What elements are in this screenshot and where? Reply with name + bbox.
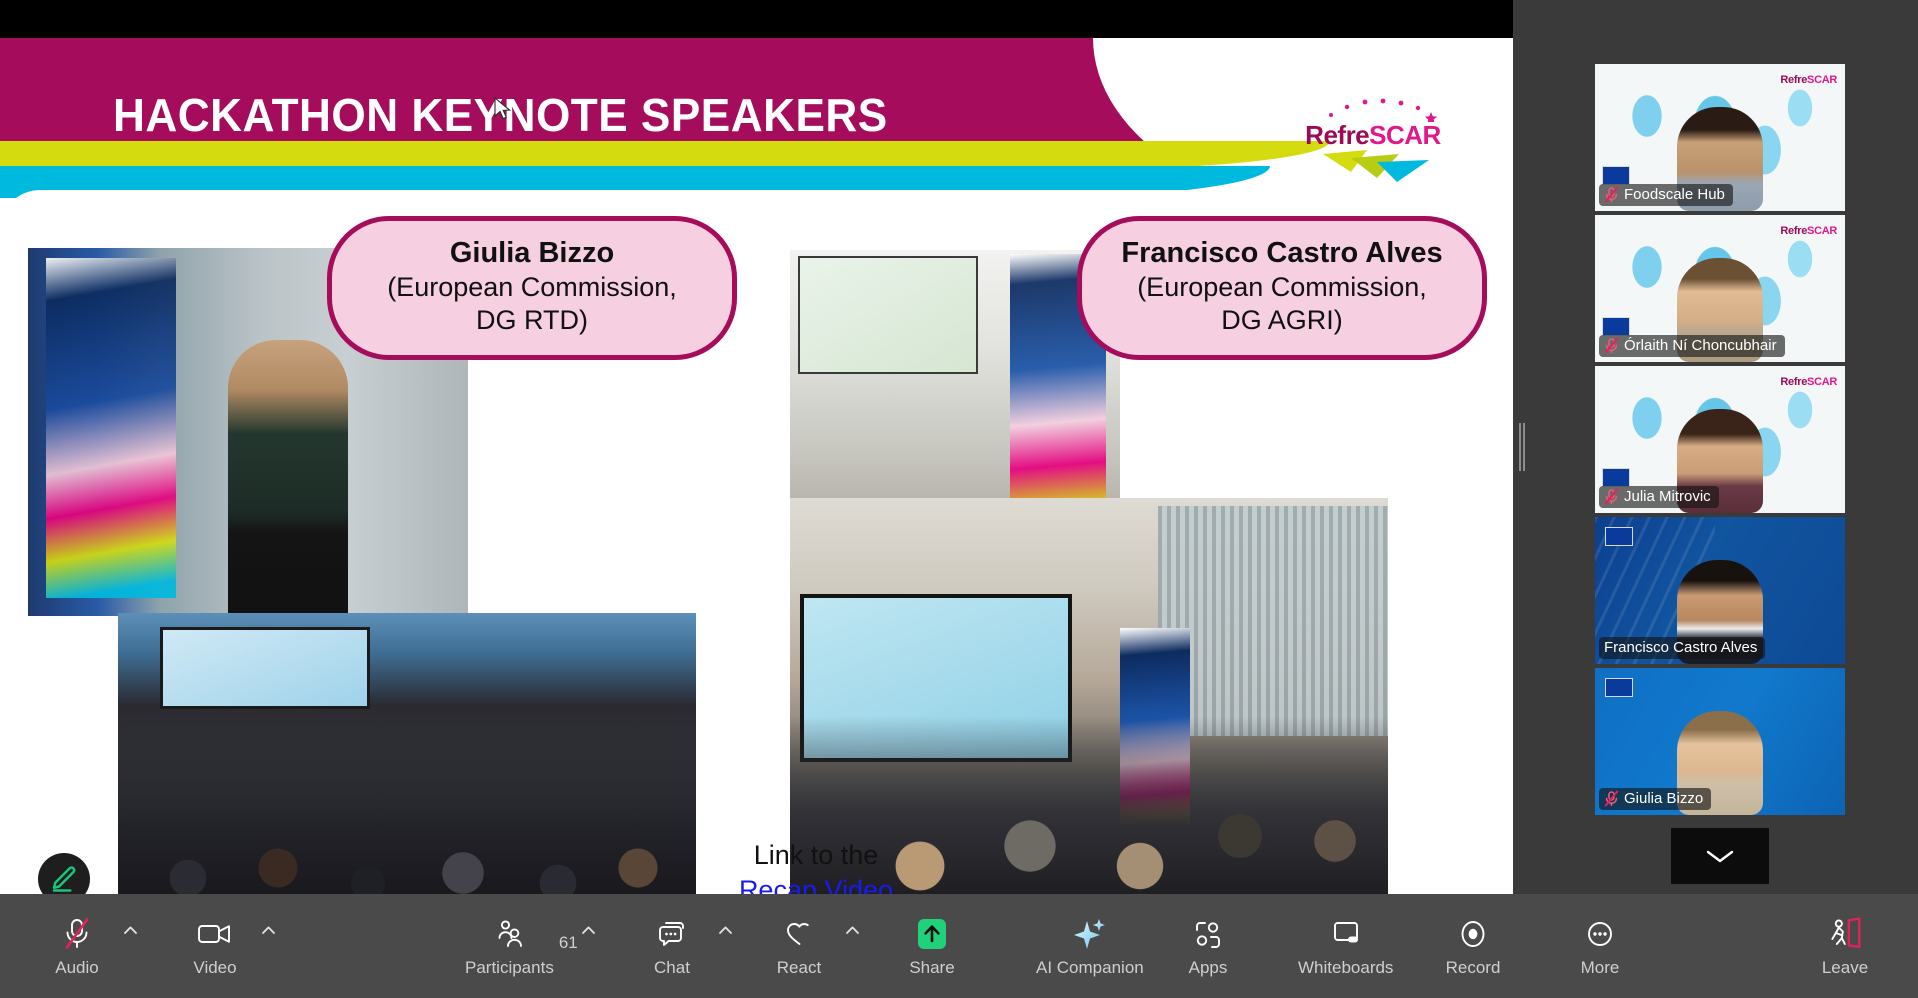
refrescar-logo: RefreSCAR [1293,98,1453,178]
toolbar-group-video: Video [173,894,279,998]
participant-name: Giulia Bizzo [1624,790,1703,807]
toolbar-group-chat: Chat [630,894,736,998]
people-icon [493,914,525,954]
toolbar-caret-react[interactable] [841,894,863,998]
toolbar-group-more: More [1558,894,1642,998]
photo-person [228,340,348,616]
tile-logo-refrescar: RefreSCAR [1780,376,1837,388]
tile-logo-refrescar: RefreSCAR [1780,225,1837,237]
microphone-muted-icon [60,914,94,954]
tile-logo-refrescar: RefreSCAR [1780,74,1837,86]
toolbar-group-audio: Audio [35,894,141,998]
zoom-meeting-window: HACKATHON KEYNOTE SPEAKERS RefreSCAR [0,0,1918,998]
toolbar-group-apps: Apps [1166,894,1250,998]
muted-mic-icon [1604,790,1619,807]
toolbar-button-react[interactable]: React [757,894,841,998]
resize-grip-icon [1519,423,1525,471]
participant-tile[interactable]: RefreSCAR Julia Mitrovic [1595,366,1845,513]
toolbar-button-label: Audio [55,958,98,978]
participant-count-badge: 61 [559,933,578,953]
toolbar-button-chat[interactable]: Chat [630,894,714,998]
participant-name-badge: Giulia Bizzo [1599,788,1711,810]
logo-stars-icon [1323,98,1443,122]
participant-name-badge: Julia Mitrovic [1599,486,1719,508]
tile-eu-flag-logo [1602,166,1630,185]
speaker-org-line2: DG AGRI) [1106,304,1458,337]
participant-name: Órlaith Ní Choncubhair [1624,337,1777,354]
recap-video-link-block: Link to the Recap Video [726,838,906,894]
toolbar-button-leave[interactable]: Leave [1822,894,1868,998]
meeting-toolbar: Audio Video Participants 61 Chat [0,894,1918,998]
photo-slide-screen [798,256,978,374]
photo-banner [46,258,176,598]
speaker-org-line1: (European Commission, [356,271,708,304]
chevron-down-icon [1703,846,1737,866]
speaker-org-line1: (European Commission, [1106,271,1458,304]
toolbar-group-record: Record [1431,894,1515,998]
toolbar-button-apps[interactable]: Apps [1166,894,1250,998]
speaker-callout-giulia: Giulia Bizzo (European Commission, DG RT… [327,216,737,360]
logo-swoosh-icon [1321,148,1431,184]
share-arrow-up-icon [914,914,950,954]
panel-resize-handle[interactable] [1513,0,1531,894]
toolbar-button-label: Share [909,958,954,978]
toolbar-group-share: Share [890,894,974,998]
toolbar-button-label: AI Companion [1036,958,1144,978]
participant-name-badge: Foodscale Hub [1599,184,1733,206]
photo-audience-room-2 [790,498,1388,894]
participant-name: Francisco Castro Alves [1604,639,1757,656]
toolbar-caret-chat[interactable] [714,894,736,998]
record-circle-icon [1457,914,1489,954]
ellipsis-circle-icon [1584,914,1616,954]
pencil-icon [49,864,79,894]
annotate-button[interactable] [38,853,90,894]
toolbar-button-participants[interactable]: Participants [465,894,554,998]
participant-name: Julia Mitrovic [1624,488,1711,505]
photo-screen [160,627,370,709]
tile-eu-flag-logo [1605,678,1633,697]
toolbar-group-ai-companion: AI Companion [1036,894,1144,998]
toolbar-button-share[interactable]: Share [890,894,974,998]
participant-tile[interactable]: Giulia Bizzo [1595,668,1845,815]
toolbar-caret-participants[interactable] [578,894,600,998]
toolbar-button-label: Leave [1822,958,1868,978]
participant-name-badge: Francisco Castro Alves [1599,637,1765,659]
shared-content-stage: HACKATHON KEYNOTE SPEAKERS RefreSCAR [0,0,1513,894]
photo-window-blinds [1158,506,1388,736]
toolbar-button-record[interactable]: Record [1431,894,1515,998]
speaker-name: Francisco Castro Alves [1106,235,1458,271]
slide-title: HACKATHON KEYNOTE SPEAKERS [113,88,888,142]
speaker-name: Giulia Bizzo [356,235,708,271]
video-filmstrip: RefreSCAR Foodscale Hub RefreSCAR Órlait… [1595,64,1845,894]
logo-wordmark: RefreSCAR [1293,120,1453,151]
toolbar-button-label: Video [193,958,236,978]
toolbar-caret-audio[interactable] [119,894,141,998]
toolbar-button-label: Apps [1189,958,1228,978]
muted-mic-icon [1604,337,1619,354]
muted-mic-icon [1604,488,1619,505]
photo-audience-heads [118,728,696,894]
toolbar-button-label: React [777,958,821,978]
toolbar-button-video[interactable]: Video [173,894,257,998]
toolbar-button-label: Record [1446,958,1501,978]
tile-eu-flag-logo [1605,527,1633,546]
toolbar-caret-video[interactable] [257,894,279,998]
whiteboard-icon [1330,914,1362,954]
recap-video-link[interactable]: Recap Video [726,873,906,894]
toolbar-button-label: Participants [465,958,554,978]
muted-mic-icon [1604,186,1619,203]
participant-name: Foodscale Hub [1624,186,1725,203]
link-prefix-text: Link to the [754,840,879,870]
participant-tile[interactable]: RefreSCAR Órlaith Ní Choncubhair [1595,215,1845,362]
participant-name-badge: Órlaith Ní Choncubhair [1599,335,1785,357]
chat-bubble-icon [656,914,688,954]
filmstrip-scroll-down-button[interactable] [1671,828,1769,884]
toolbar-group-react: React [757,894,863,998]
apps-icon [1192,914,1224,954]
toolbar-button-label: Whiteboards [1298,958,1393,978]
sparkle-icon [1073,914,1107,954]
tile-eu-flag-logo [1602,468,1630,487]
tile-eu-flag-logo [1602,317,1630,336]
heart-icon [783,914,815,954]
participant-tile[interactable]: Francisco Castro Alves [1595,517,1845,664]
presentation-slide: HACKATHON KEYNOTE SPEAKERS RefreSCAR [0,38,1513,894]
participant-tile[interactable]: RefreSCAR Foodscale Hub [1595,64,1845,211]
slide-band-yellow [0,141,1330,169]
leave-door-icon [1827,914,1863,954]
photo-audience-room-1 [118,613,696,894]
toolbar-button-label: Chat [654,958,690,978]
speaker-callout-francisco: Francisco Castro Alves (European Commiss… [1077,216,1487,360]
toolbar-button-label: More [1581,958,1620,978]
toolbar-button-audio[interactable]: Audio [35,894,119,998]
toolbar-group-participants: Participants 61 [465,894,600,998]
toolbar-button-ai-companion[interactable]: AI Companion [1036,894,1144,998]
speaker-org-line2: DG RTD) [356,304,708,337]
camera-icon [196,914,234,954]
toolbar-button-whiteboards[interactable]: Whiteboards [1298,894,1393,998]
toolbar-button-more[interactable]: More [1558,894,1642,998]
toolbar-group-whiteboards: Whiteboards [1298,894,1393,998]
